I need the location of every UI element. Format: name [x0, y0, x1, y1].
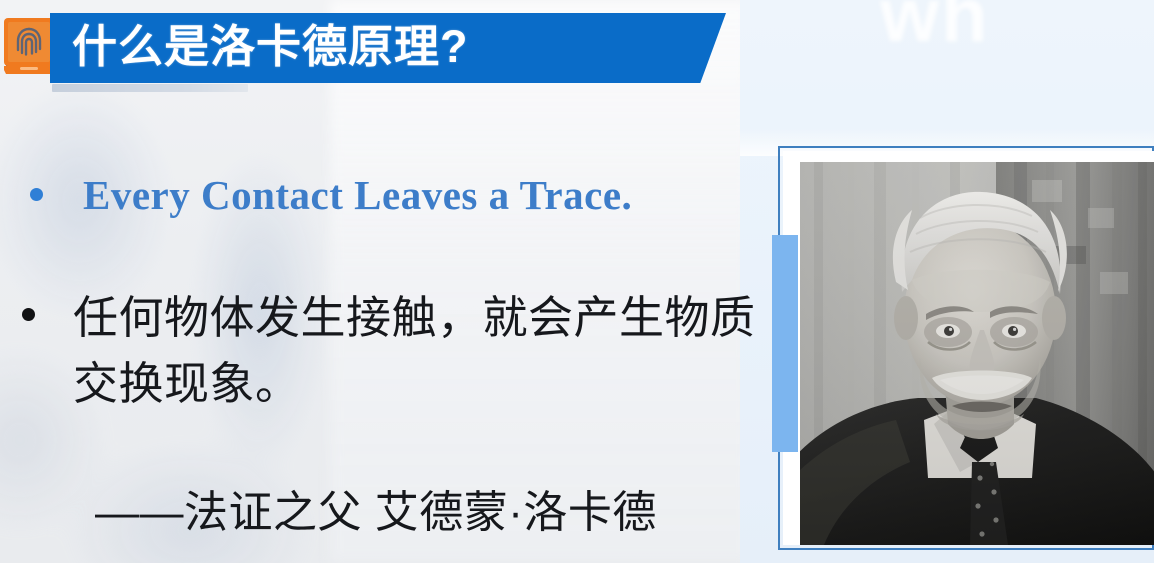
attribution-text: ——法证之父 艾德蒙·洛卡德 [95, 485, 657, 541]
slide-title-banner: 什么是洛卡德原理? [50, 13, 726, 83]
bullet-dot-icon [22, 308, 35, 321]
title-underline-bar [52, 84, 248, 92]
portrait-photo [800, 162, 1154, 545]
slide-canvas: wh 什么是洛卡德原理? Every Contact Leaves a Tra [0, 0, 1154, 563]
bullet-item-english: Every Contact Leaves a Trace. [30, 172, 632, 218]
page-title: 什么是洛卡德原理? [72, 13, 469, 83]
photo-accent-bar [772, 235, 798, 452]
background-watermark-text: wh [880, 0, 1154, 62]
bullet-text-chinese: 任何物体发生接触，就会产生物质交换现象。 [73, 285, 763, 417]
bullet-item-chinese: 任何物体发生接触，就会产生物质交换现象。 [22, 285, 763, 417]
background-blur-middle [330, 0, 750, 563]
bullet-dot-icon [30, 188, 43, 201]
bullet-text-english: Every Contact Leaves a Trace. [83, 172, 632, 218]
